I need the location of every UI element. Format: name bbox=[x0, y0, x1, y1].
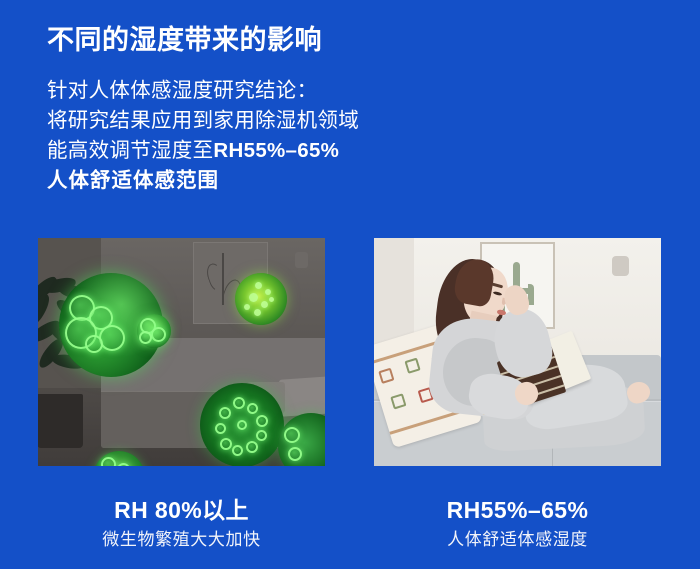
body-line-4: 人体舒适体感范围 bbox=[47, 166, 359, 196]
germ-dot bbox=[265, 289, 271, 295]
germ-cell bbox=[117, 463, 130, 466]
bright-room-scene bbox=[374, 238, 661, 466]
germ-dot bbox=[255, 282, 262, 289]
germ-dot bbox=[261, 301, 268, 308]
caption-main-right: RH55%–65% bbox=[374, 496, 661, 524]
germ-dot bbox=[249, 293, 258, 302]
germ-dot bbox=[269, 297, 274, 302]
germ-cell bbox=[284, 427, 300, 443]
germ-cell bbox=[247, 403, 258, 414]
photo-high-humidity bbox=[38, 238, 325, 466]
germ-cell bbox=[256, 430, 267, 441]
germ-cell bbox=[232, 445, 243, 456]
caption-comfort-humidity: RH55%–65% 人体舒适体感湿度 bbox=[374, 496, 661, 553]
germ-cell bbox=[219, 407, 231, 419]
woman-reading bbox=[374, 238, 661, 466]
body-line-2: 将研究结果应用到家用除湿机领域 bbox=[47, 106, 359, 136]
humidity-range-highlight: RH55%–65% bbox=[213, 139, 339, 162]
germ-cluster-mid bbox=[137, 314, 171, 348]
body-line-1: 针对人体体感湿度研究结论： bbox=[47, 76, 359, 106]
germ-cell bbox=[85, 335, 103, 353]
plant-pot-dark bbox=[38, 394, 83, 448]
dark-room-scene bbox=[38, 238, 325, 466]
twig-art-icon bbox=[222, 253, 224, 306]
slide-root: 不同的湿度带来的影响 针对人体体感湿度研究结论： 将研究结果应用到家用除湿机领域… bbox=[0, 0, 700, 569]
germ-cell bbox=[233, 397, 245, 409]
germ-cell bbox=[151, 327, 166, 342]
germ-cluster-small-top bbox=[235, 273, 287, 325]
germ-cell bbox=[256, 415, 268, 427]
caption-high-humidity: RH 80%以上 微生物繁殖大大加快 bbox=[38, 496, 325, 553]
photo-comfort-humidity bbox=[374, 238, 661, 466]
caption-sub-right: 人体舒适体感湿度 bbox=[374, 527, 661, 553]
germ-cell bbox=[215, 423, 226, 434]
germ-cluster-bottom bbox=[200, 383, 284, 466]
germ-cell bbox=[220, 438, 232, 450]
germ-cell bbox=[246, 441, 258, 453]
caption-sub-left: 微生物繁殖大大加快 bbox=[38, 527, 325, 553]
germ-dot bbox=[244, 304, 250, 310]
germ-cell bbox=[288, 447, 302, 461]
page-title: 不同的湿度带来的影响 bbox=[47, 18, 322, 57]
germ-dot bbox=[254, 309, 261, 316]
germ-cell bbox=[101, 457, 116, 466]
germ-cell bbox=[139, 331, 152, 344]
germ-cell bbox=[99, 325, 125, 351]
body-line-3: 能高效调节湿度至RH55%–65% bbox=[47, 136, 359, 166]
wall-sensor-icon-dark bbox=[295, 252, 308, 268]
body-line-3-prefix: 能高效调节湿度至 bbox=[47, 139, 213, 162]
sofa-cushion-dark-1 bbox=[279, 376, 325, 417]
germ-cell bbox=[237, 420, 247, 430]
body-paragraph: 针对人体体感湿度研究结论： 将研究结果应用到家用除湿机领域 能高效调节湿度至RH… bbox=[47, 76, 359, 196]
caption-main-left: RH 80%以上 bbox=[38, 496, 325, 524]
